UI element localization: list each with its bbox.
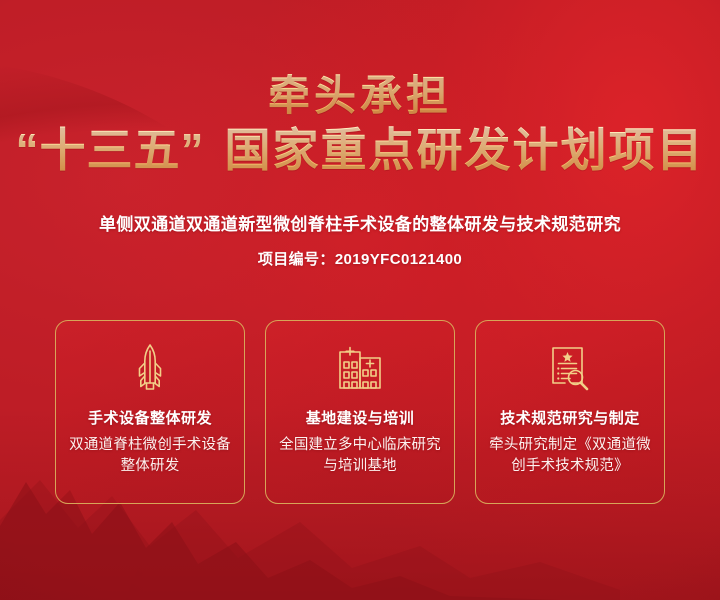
feature-card-tech-standard[interactable]: 技术规范研究与制定 牵头研究制定《双通道微创手术技术规范》 xyxy=(475,320,665,504)
feature-card-title: 手术设备整体研发 xyxy=(88,407,212,428)
hospital-building-icon xyxy=(337,343,383,393)
page-title-quoted-term: “十三五” xyxy=(16,124,205,176)
feature-card-description: 双通道脊柱微创手术设备整体研发 xyxy=(66,435,234,477)
poster-banner: 牵头承担 “十三五”国家重点研发计划项目 单侧双通道双通道新型微创脊柱手术设备的… xyxy=(0,0,720,600)
project-number: 项目编号：2019YFC0121400 xyxy=(0,248,720,269)
feature-card-description: 牵头研究制定《双通道微创手术技术规范》 xyxy=(486,435,654,477)
feature-card-description: 全国建立多中心临床研究与培训基地 xyxy=(276,435,444,477)
feature-card-list: 手术设备整体研发 双通道脊柱微创手术设备整体研发 xyxy=(55,320,665,504)
page-title-line-1: 牵头承担 xyxy=(0,74,720,118)
feature-card-base-training[interactable]: 基地建设与培训 全国建立多中心临床研究与培训基地 xyxy=(265,320,455,504)
page-title-line-2: “十三五”国家重点研发计划项目 xyxy=(0,126,720,176)
document-search-icon xyxy=(547,343,593,393)
feature-card-title: 基地建设与培训 xyxy=(306,407,415,428)
feature-card-title: 技术规范研究与制定 xyxy=(500,407,640,428)
feature-card-equipment-rnd[interactable]: 手术设备整体研发 双通道脊柱微创手术设备整体研发 xyxy=(55,320,245,504)
heading-block: 牵头承担 “十三五”国家重点研发计划项目 xyxy=(0,74,720,176)
page-subtitle: 单侧双通道双通道新型微创脊柱手术设备的整体研发与技术规范研究 xyxy=(0,210,720,235)
page-title-rest: 国家重点研发计划项目 xyxy=(225,124,705,176)
rocket-icon xyxy=(127,343,173,393)
